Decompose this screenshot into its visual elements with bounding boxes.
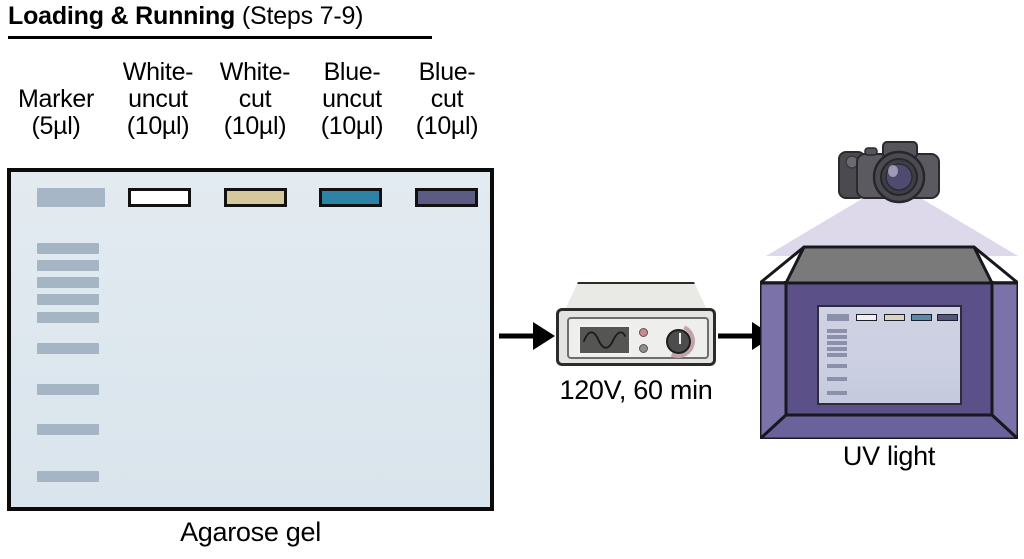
uv-minigel-band [827, 353, 847, 357]
title-steps-part: (Steps 7-9) [235, 2, 363, 30]
arrow-gel-to-power [499, 322, 555, 350]
marker-band [37, 294, 99, 305]
lane-label-white-cut: White- cut (10µl) [205, 59, 305, 140]
status-indicator-led [639, 344, 648, 353]
sine-wave-icon [578, 325, 631, 355]
marker-band [37, 424, 99, 435]
power-supply-body [556, 308, 716, 366]
lane-label-line2: uncut [303, 86, 401, 113]
uv-minigel-well-marker [827, 314, 849, 321]
marker-band [37, 260, 99, 271]
agarose-gel [7, 168, 494, 511]
lane-label-row: Marker (5µl) White- uncut (10µl) White- … [0, 56, 500, 156]
lane-label-blue-uncut: Blue- uncut (10µl) [303, 59, 401, 140]
uv-minigel-band [827, 329, 847, 333]
lane-label-line1: White- [108, 59, 208, 86]
marker-band [37, 384, 99, 395]
uv-minigel [817, 305, 962, 405]
uv-minigel-well-white-uncut [856, 314, 877, 321]
gel-well-white-cut [224, 188, 287, 207]
uv-minigel-band [827, 377, 847, 381]
lane-label-line2: Marker [2, 86, 110, 113]
title-bold-part: Loading & Running [8, 2, 235, 30]
uv-minigel-well-white-cut [884, 314, 905, 321]
uv-minigel-well-blue-cut [937, 314, 958, 321]
voltage-knob[interactable] [666, 329, 691, 354]
gel-caption: Agarose gel [7, 517, 494, 548]
diagram-canvas: Loading & Running (Steps 7-9) Marker (5µ… [0, 0, 1024, 559]
lane-label-line3: (5µl) [2, 113, 110, 140]
page-title: Loading & Running (Steps 7-9) [8, 2, 363, 31]
marker-band [37, 471, 99, 482]
gel-well-marker [37, 188, 105, 207]
arrow-head [533, 322, 555, 350]
gel-well-blue-cut [415, 188, 478, 207]
knob-pointer [679, 333, 681, 344]
camera-icon [835, 136, 947, 208]
lane-label-line2: cut [205, 86, 305, 113]
lane-label-line3: (10µl) [108, 113, 208, 140]
lane-label-line2: uncut [108, 86, 208, 113]
gel-well-blue-uncut [319, 188, 382, 207]
lane-label-blue-cut: Blue- cut (10µl) [398, 59, 496, 140]
power-indicator-led [639, 328, 648, 337]
power-supply-caption: 120V, 60 min [530, 375, 742, 406]
marker-band [37, 312, 99, 323]
lane-label-line2: cut [398, 86, 496, 113]
uv-caption: UV light [760, 441, 1018, 472]
lane-label-line3: (10µl) [205, 113, 305, 140]
uv-minigel-band [827, 391, 847, 395]
power-supply-front-panel [567, 317, 709, 359]
gel-well-white-uncut [128, 188, 191, 207]
uv-minigel-band [827, 341, 847, 345]
arrow-shaft [718, 334, 754, 339]
uv-minigel-band [827, 364, 847, 368]
uv-transilluminator-box [760, 243, 1018, 439]
power-supply [556, 282, 716, 368]
lane-label-white-uncut: White- uncut (10µl) [108, 59, 208, 140]
marker-band [37, 343, 99, 354]
arrow-shaft [499, 334, 535, 339]
lane-label-line1: Blue- [398, 59, 496, 86]
lane-label-line3: (10µl) [303, 113, 401, 140]
uv-minigel-band [827, 335, 847, 339]
uv-minigel-band [827, 347, 847, 351]
marker-band [37, 243, 99, 254]
lane-label-line3: (10µl) [398, 113, 496, 140]
uv-minigel-well-blue-uncut [911, 314, 932, 321]
title-underline [8, 36, 432, 39]
lane-label-marker: Marker (5µl) [2, 86, 110, 140]
lane-label-line1: Blue- [303, 59, 401, 86]
marker-band [37, 277, 99, 288]
lane-label-line1: White- [205, 59, 305, 86]
